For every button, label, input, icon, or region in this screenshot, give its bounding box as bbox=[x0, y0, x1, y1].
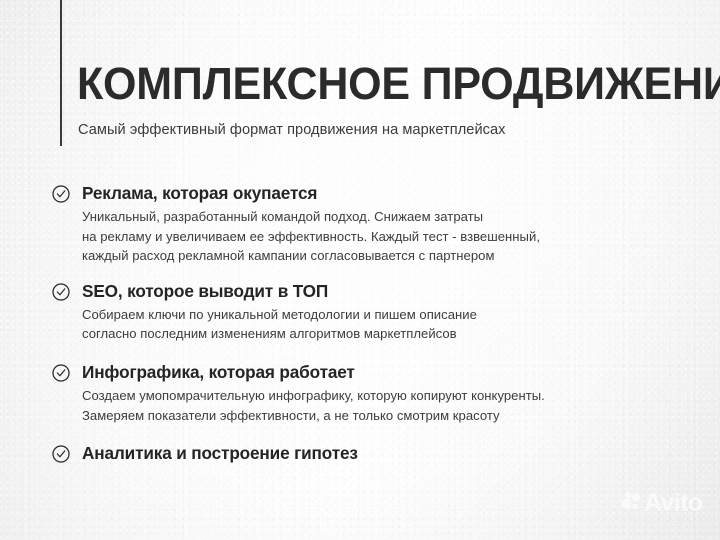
check-circle-icon bbox=[52, 445, 70, 463]
avito-watermark-label: Avito bbox=[644, 491, 703, 516]
feature-list: Реклама, которая окупается Уникальный, р… bbox=[52, 182, 692, 464]
feature-body: Уникальный, разработанный командой подхо… bbox=[82, 207, 692, 266]
check-circle-icon bbox=[52, 185, 70, 203]
slide-canvas: КОМПЛЕКСНОЕ ПРОДВИЖЕНИЕ Самый эффективны… bbox=[0, 0, 720, 540]
avito-dots-logo-icon bbox=[620, 490, 642, 517]
feature-item-infografika: Инфографика, которая работает Создаем ум… bbox=[52, 361, 692, 425]
feature-title: SEO, которое выводит в ТОП bbox=[82, 280, 692, 302]
header-vertical-rule-icon bbox=[60, 0, 62, 146]
feature-item-reklama: Реклама, которая окупается Уникальный, р… bbox=[52, 182, 692, 266]
check-circle-icon bbox=[52, 283, 70, 301]
avito-watermark: Avito bbox=[620, 488, 712, 518]
feature-body: Собираем ключи по уникальной методологии… bbox=[82, 305, 692, 344]
feature-item-seo: SEO, которое выводит в ТОП Собираем ключ… bbox=[52, 280, 692, 344]
feature-title: Инфографика, которая работает bbox=[82, 361, 692, 383]
feature-item-analitika: Аналитика и построение гипотез bbox=[52, 442, 692, 464]
feature-title: Аналитика и построение гипотез bbox=[82, 442, 692, 464]
page-subtitle: Самый эффективный формат продвижения на … bbox=[78, 120, 506, 140]
check-circle-icon bbox=[52, 364, 70, 382]
page-title: КОМПЛЕКСНОЕ ПРОДВИЖЕНИЕ bbox=[77, 61, 720, 107]
feature-body: Создаем умопомрачительную инфографику, к… bbox=[82, 386, 692, 425]
feature-title: Реклама, которая окупается bbox=[82, 182, 692, 204]
